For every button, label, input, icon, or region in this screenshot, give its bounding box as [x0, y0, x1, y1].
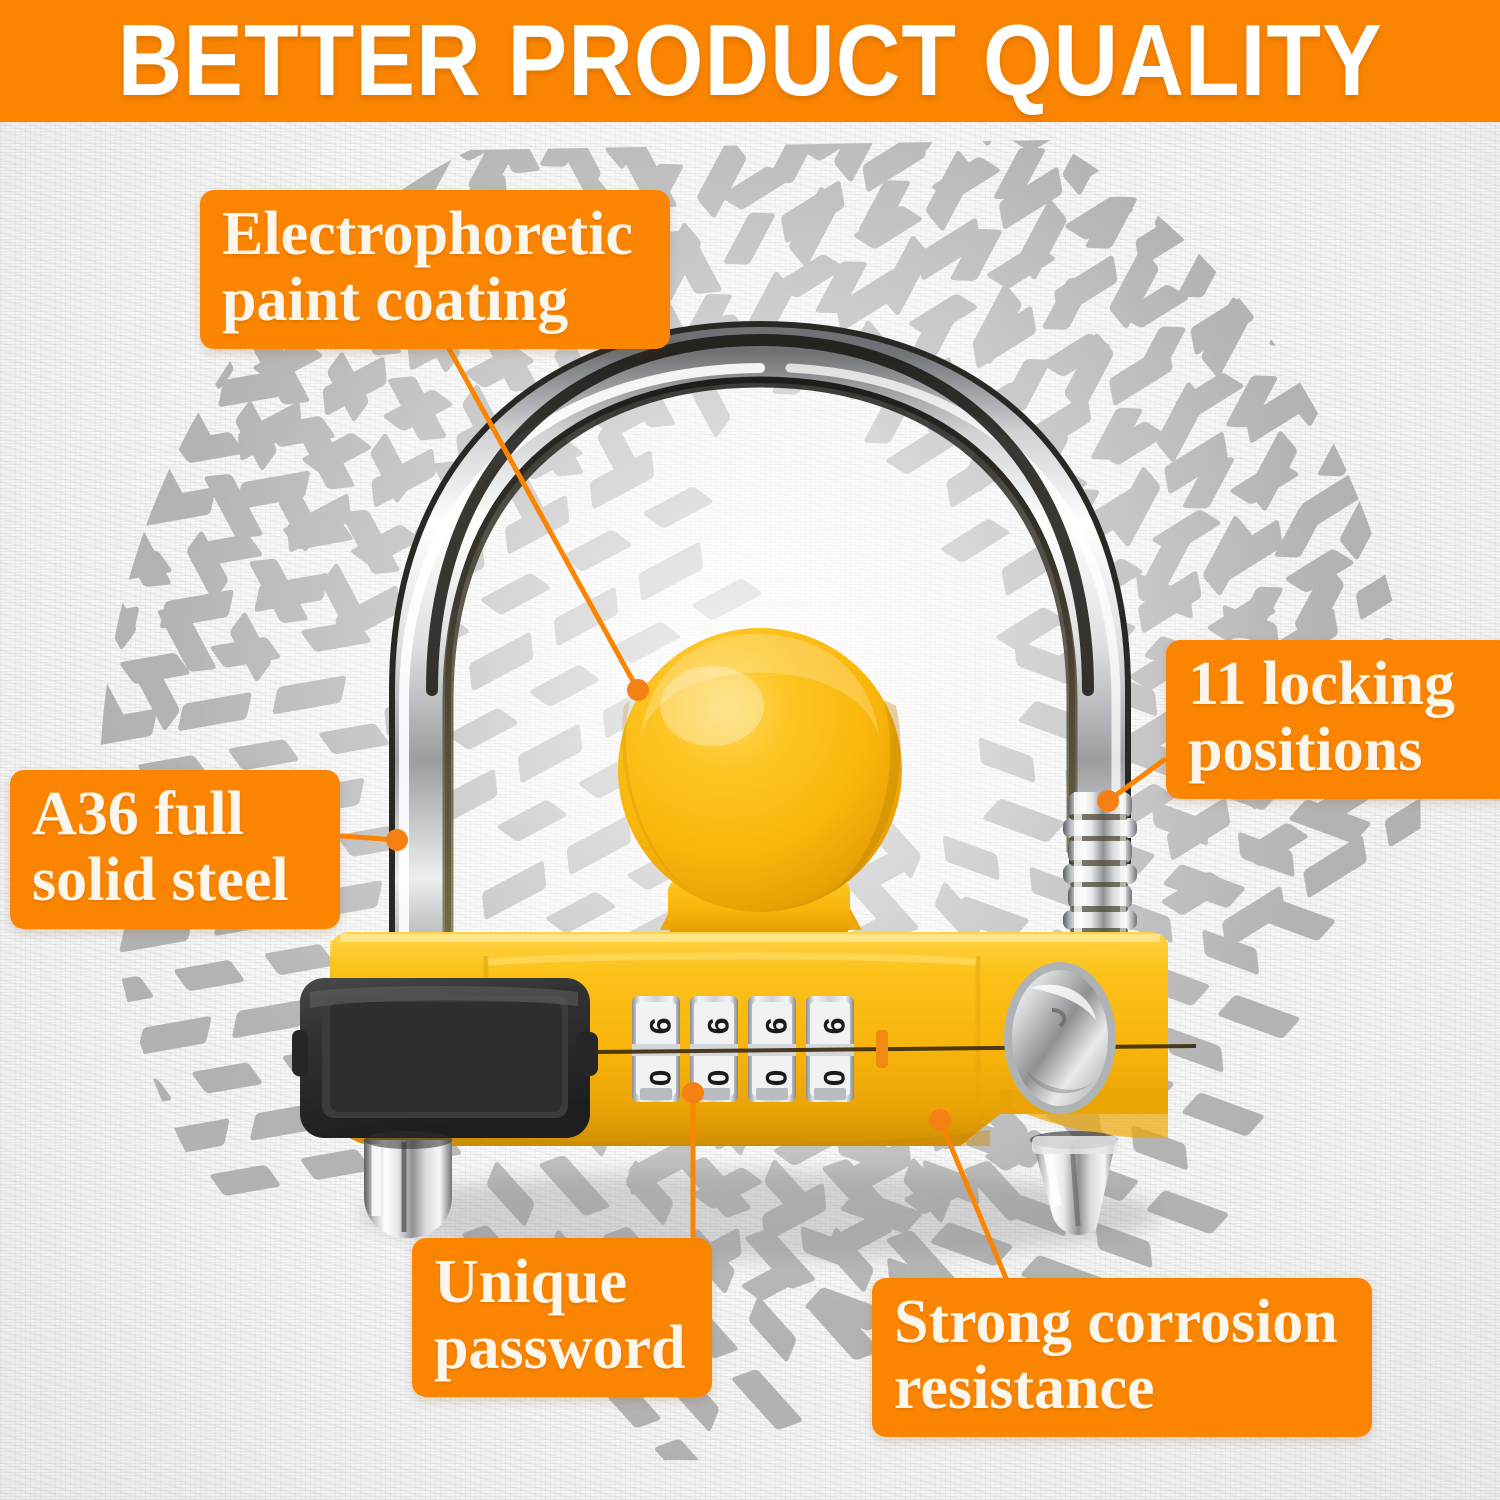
product-feature-image: 9 0 9 0 9 0	[0, 0, 1500, 1500]
combination-dial-1[interactable]: 9 0	[632, 996, 680, 1102]
callout-electrophoretic-paint-coating: Electrophoretic paint coating	[200, 190, 670, 349]
black-rubber-cover[interactable]	[292, 978, 598, 1138]
callout-coating-line-2: paint coating	[222, 268, 648, 334]
chrome-pin-left	[364, 1131, 452, 1238]
callout-positions-line-1: 11 locking	[1188, 652, 1490, 718]
yellow-hitch-ball	[618, 628, 902, 938]
svg-text:0: 0	[759, 1070, 792, 1087]
svg-text:9: 9	[643, 1018, 676, 1035]
svg-text:9: 9	[817, 1018, 850, 1035]
header-banner: BETTER PRODUCT QUALITY	[0, 0, 1500, 122]
chrome-thumb-knob[interactable]	[1004, 962, 1116, 1114]
svg-text:9: 9	[701, 1018, 734, 1035]
callout-steel-line-1: A36 full	[32, 782, 318, 848]
shackle-notches-right-leg	[1063, 792, 1137, 954]
callout-coating-line-1: Electrophoretic	[222, 202, 648, 268]
callout-corrosion-line-1: Strong corrosion	[894, 1290, 1350, 1356]
callout-11-locking-positions: 11 locking positions	[1166, 640, 1500, 799]
callout-password-line-2: password	[434, 1316, 690, 1382]
svg-text:0: 0	[817, 1070, 850, 1087]
callout-steel-line-2: solid steel	[32, 848, 318, 914]
svg-text:0: 0	[701, 1070, 734, 1087]
svg-text:0: 0	[643, 1070, 676, 1087]
callout-strong-corrosion-resistance: Strong corrosion resistance	[872, 1278, 1372, 1437]
svg-text:9: 9	[759, 1018, 792, 1035]
callout-a36-full-solid-steel: A36 full solid steel	[10, 770, 340, 929]
page-title: BETTER PRODUCT QUALITY	[117, 3, 1382, 120]
callout-positions-line-2: positions	[1188, 718, 1490, 784]
callout-corrosion-line-2: resistance	[894, 1356, 1350, 1422]
callout-unique-password: Unique password	[412, 1238, 712, 1397]
callout-password-line-1: Unique	[434, 1250, 690, 1316]
